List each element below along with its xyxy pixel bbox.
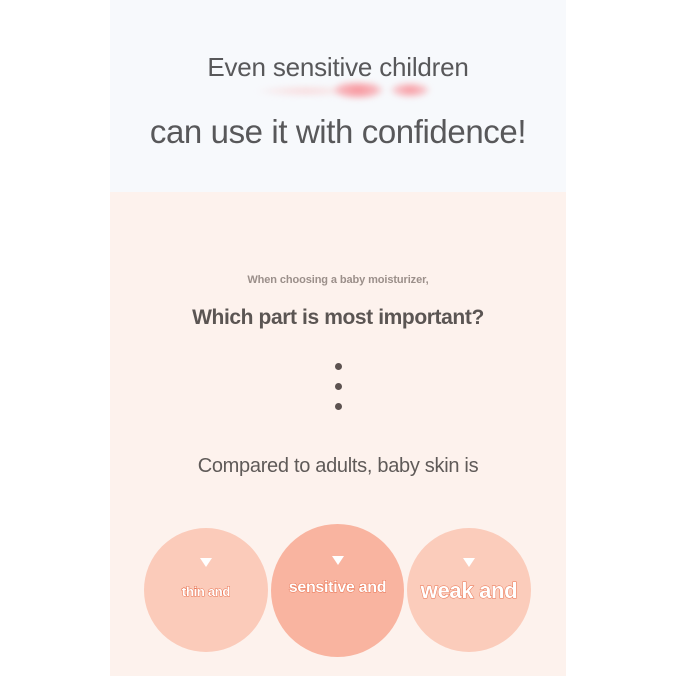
comparison-statement: Compared to adults, baby skin is <box>110 455 566 478</box>
hero-headline-line-1: Even sensitive children <box>110 52 566 83</box>
ellipsis-dot <box>335 383 342 390</box>
content-column: Even sensitive children can use it with … <box>110 0 566 676</box>
caret-down-icon <box>463 558 475 567</box>
attribute-circle-label: sensitive and <box>271 579 404 597</box>
attribute-circle-weak[interactable]: weak and <box>407 528 531 652</box>
body-section: When choosing a baby moisturizer, Which … <box>110 192 566 676</box>
hero-headline-line-2: can use it with confidence! <box>110 113 566 151</box>
ellipsis-dot <box>335 403 342 410</box>
attribute-circle-row: thin and sensitive and weak and <box>110 524 566 664</box>
caret-down-icon <box>200 558 212 567</box>
attribute-circle-label: thin and <box>144 584 268 599</box>
attribute-circle-label: weak and <box>407 578 531 604</box>
eyebrow-text: When choosing a baby moisturizer, <box>110 274 566 286</box>
promo-page: Even sensitive children can use it with … <box>0 0 676 676</box>
attribute-circle-sensitive[interactable]: sensitive and <box>271 524 404 657</box>
hero-section: Even sensitive children can use it with … <box>110 0 566 192</box>
vertical-ellipsis-icon <box>110 363 566 410</box>
caret-down-icon <box>332 556 344 565</box>
attribute-circle-thin[interactable]: thin and <box>144 528 268 652</box>
ellipsis-dot <box>335 363 342 370</box>
question-heading: Which part is most important? <box>110 306 566 330</box>
